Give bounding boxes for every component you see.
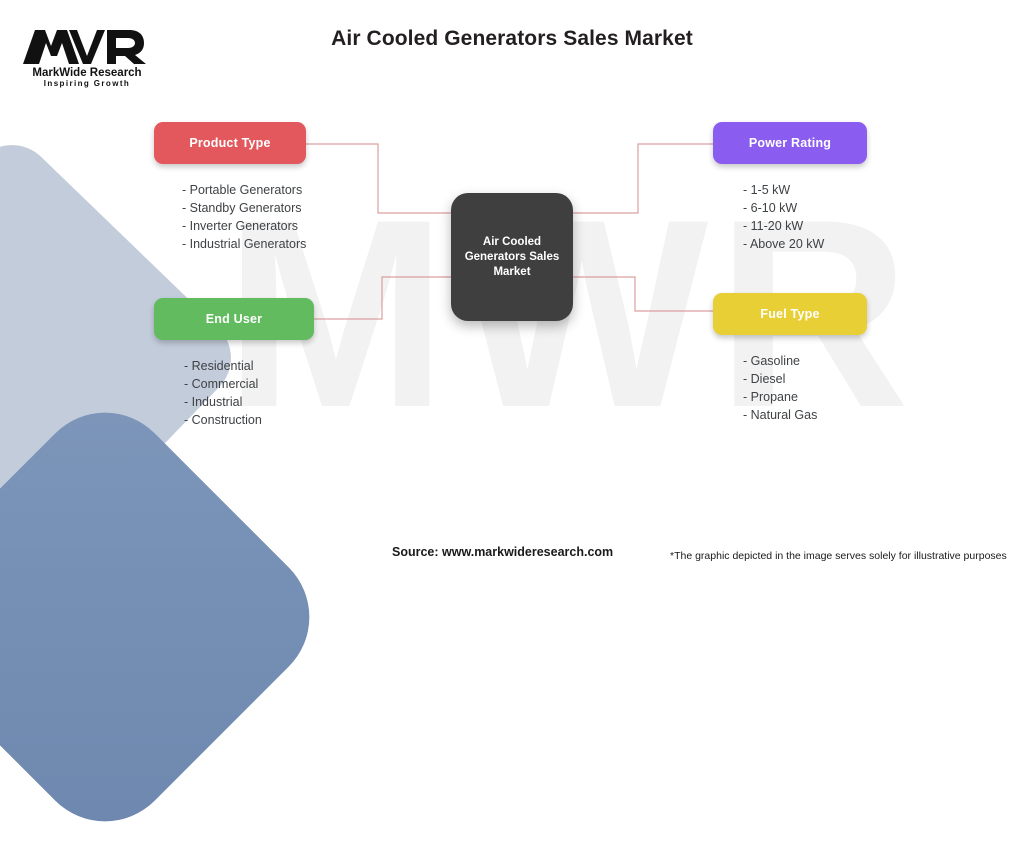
list-item: - Residential bbox=[184, 357, 314, 375]
branch-fuel-type-list: - Gasoline - Diesel - Propane - Natural … bbox=[713, 352, 867, 424]
branch-power-rating: Power Rating - 1-5 kW - 6-10 kW - 11-20 … bbox=[713, 122, 867, 253]
branch-product-type: Product Type - Portable Generators - Sta… bbox=[154, 122, 306, 253]
connector-end-user bbox=[314, 277, 452, 319]
list-item: - 6-10 kW bbox=[743, 199, 867, 217]
logo-name: MarkWide Research bbox=[32, 67, 141, 79]
center-line-3: Market bbox=[493, 266, 530, 278]
branch-power-rating-chip[interactable]: Power Rating bbox=[713, 122, 867, 164]
center-node[interactable]: Air Cooled Generators Sales Market bbox=[451, 193, 573, 321]
branch-product-type-title: Product Type bbox=[189, 136, 270, 150]
list-item: - Propane bbox=[743, 388, 867, 406]
branch-end-user-chip[interactable]: End User bbox=[154, 298, 314, 340]
branch-power-rating-title: Power Rating bbox=[749, 136, 831, 150]
branch-end-user-list: - Residential - Commercial - Industrial … bbox=[154, 357, 314, 429]
list-item: - Industrial bbox=[184, 393, 314, 411]
branch-end-user: End User - Residential - Commercial - In… bbox=[154, 298, 314, 429]
branch-product-type-chip[interactable]: Product Type bbox=[154, 122, 306, 164]
branch-fuel-type-chip[interactable]: Fuel Type bbox=[713, 293, 867, 335]
center-line-1: Air Cooled bbox=[483, 236, 541, 248]
branch-fuel-type-title: Fuel Type bbox=[760, 307, 819, 321]
branch-product-type-list: - Portable Generators - Standby Generato… bbox=[154, 181, 306, 253]
disclaimer-text: *The graphic depicted in the image serve… bbox=[670, 550, 1007, 562]
list-item: - Above 20 kW bbox=[743, 235, 867, 253]
list-item: - Natural Gas bbox=[743, 406, 867, 424]
list-item: - Gasoline bbox=[743, 352, 867, 370]
branch-power-rating-list: - 1-5 kW - 6-10 kW - 11-20 kW - Above 20… bbox=[713, 181, 867, 253]
source-text: Source: www.markwideresearch.com bbox=[392, 545, 613, 559]
connector-fuel-type bbox=[572, 277, 714, 311]
list-item: - Standby Generators bbox=[182, 199, 306, 217]
list-item: - Industrial Generators bbox=[182, 235, 306, 253]
list-item: - Diesel bbox=[743, 370, 867, 388]
list-item: - Construction bbox=[184, 411, 314, 429]
page-title: Air Cooled Generators Sales Market bbox=[0, 27, 1024, 51]
center-line-2: Generators Sales bbox=[465, 251, 560, 263]
list-item: - 11-20 kW bbox=[743, 217, 867, 235]
branch-fuel-type: Fuel Type - Gasoline - Diesel - Propane … bbox=[713, 293, 867, 424]
connector-power-rating bbox=[572, 144, 714, 213]
logo-tagline: Inspiring Growth bbox=[44, 79, 130, 88]
list-item: - Inverter Generators bbox=[182, 217, 306, 235]
connector-product-type bbox=[306, 144, 452, 213]
list-item: - Commercial bbox=[184, 375, 314, 393]
list-item: - 1-5 kW bbox=[743, 181, 867, 199]
center-node-label: Air Cooled Generators Sales Market bbox=[457, 235, 568, 280]
branch-end-user-title: End User bbox=[206, 312, 262, 326]
list-item: - Portable Generators bbox=[182, 181, 306, 199]
infographic-canvas: MWR MarkWide Research Inspiring Growth A… bbox=[0, 0, 1024, 576]
